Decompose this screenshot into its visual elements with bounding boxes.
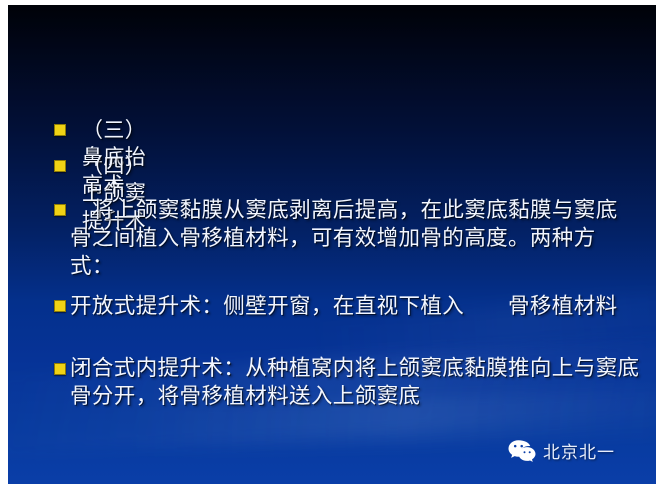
watermark-label: 北京北一 [543,438,615,463]
presentation-slide: （三）鼻底抬高术 （四）上颌窦提升术 将上颌窦黏膜从窦底剥离后提高，在此窦底黏膜… [8,5,656,484]
bullet-marker-icon [54,204,66,216]
bullet-text-4: 开放式提升术：侧壁开窗，在直视下植入 骨移植材料 [70,293,640,321]
wechat-icon [508,439,536,463]
slide-content: （三）鼻底抬高术 （四）上颌窦提升术 将上颌窦黏膜从窦底剥离后提高，在此窦底黏膜… [8,5,656,484]
bullet-marker-icon [54,124,66,136]
bullet-marker-icon [54,160,66,172]
bullet-marker-icon [54,363,66,375]
slide-frame: （三）鼻底抬高术 （四）上颌窦提升术 将上颌窦黏膜从窦底剥离后提高，在此窦底黏膜… [0,0,665,489]
bullet-text-5: 闭合式内提升术：从种植窝内将上颌窦底黏膜推向上与窦底骨分开，将骨移植材料送入上颌… [70,355,642,411]
bullet-text-3: 将上颌窦黏膜从窦底剥离后提高，在此窦底黏膜与窦底骨之间植入骨移植材料，可有效增加… [70,197,630,281]
watermark: 北京北一 [508,438,615,463]
bullet-marker-icon [54,300,66,312]
